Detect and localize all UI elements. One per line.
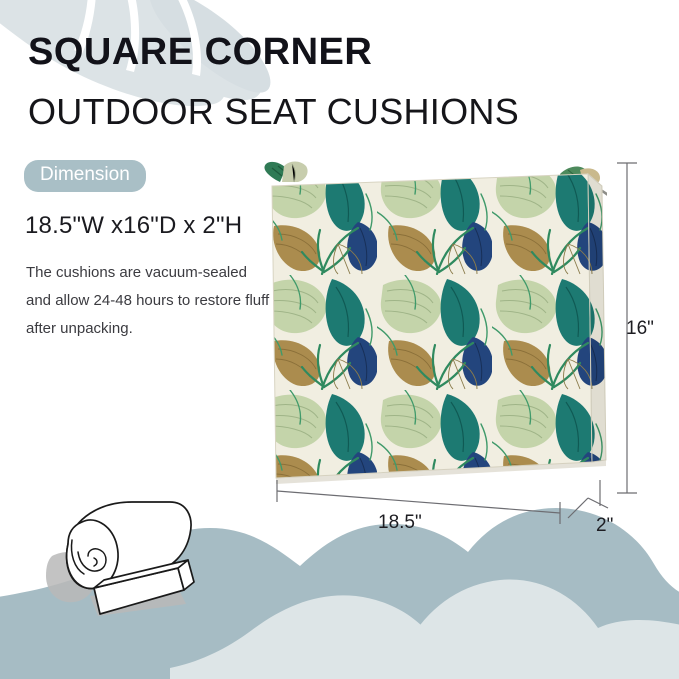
title-line-primary: SQUARE CORNER bbox=[28, 30, 519, 74]
cushion-front-face bbox=[272, 174, 592, 478]
height-dimension-label: 16" bbox=[626, 318, 654, 340]
cloud-blob-front-icon bbox=[170, 579, 679, 679]
vacuum-seal-note: The cushions are vacuum-sealed and allow… bbox=[26, 259, 270, 343]
cushion-product-image bbox=[262, 160, 607, 500]
corner-tie-strap-icon bbox=[264, 162, 307, 183]
page-title: SQUARE CORNER OUTDOOR SEAT CUSHIONS bbox=[28, 30, 519, 134]
dimension-value-text: 18.5"W x16"D x 2"H bbox=[25, 212, 242, 240]
depth-line-left bbox=[568, 498, 588, 518]
product-infographic: SQUARE CORNER OUTDOOR SEAT CUSHIONS Dime… bbox=[0, 0, 679, 679]
rolled-foam-cushion-icon bbox=[28, 492, 243, 642]
title-line-secondary: OUTDOOR SEAT CUSHIONS bbox=[28, 90, 519, 134]
width-dimension-label: 18.5" bbox=[378, 512, 422, 534]
depth-dimension-label: 2" bbox=[596, 515, 613, 537]
dimension-badge: Dimension bbox=[24, 160, 146, 192]
